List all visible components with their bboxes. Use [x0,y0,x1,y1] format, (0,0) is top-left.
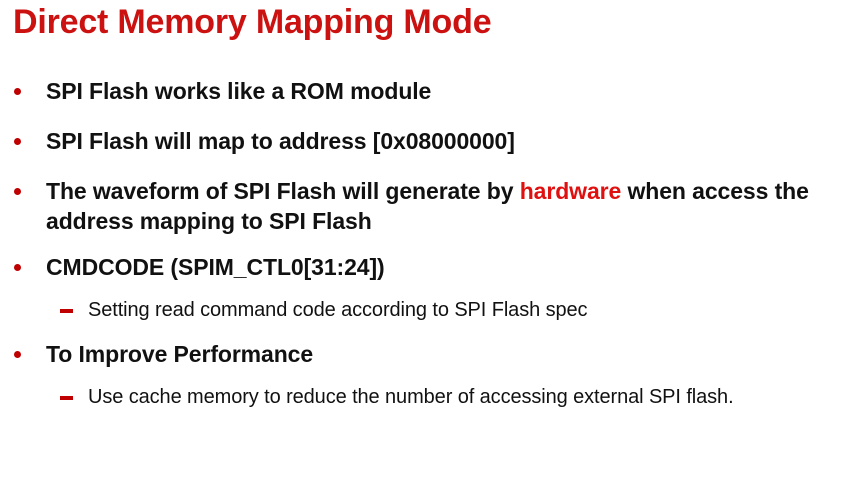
list-item: The waveform of SPI Flash will generate … [0,176,857,236]
page-title: Direct Memory Mapping Mode [13,3,491,42]
sub-list-item: Setting read command code according to S… [0,296,857,325]
list-item-label: CMDCODE (SPIM_CTL0[31:24]) [46,252,857,282]
round-bullet-icon [14,88,21,95]
list-item-label: SPI Flash works like a ROM module [46,76,857,106]
list-item: CMDCODE (SPIM_CTL0[31:24]) [0,252,857,282]
round-bullet-icon [14,138,21,145]
sub-list-item-label: Use cache memory to reduce the number of… [88,383,857,412]
list-item: SPI Flash works like a ROM module [0,76,857,106]
round-bullet-icon [14,351,21,358]
sub-list-item: Use cache memory to reduce the number of… [0,383,857,412]
list-item-label-prefix: The waveform of SPI Flash will generate … [46,178,520,204]
list-item: SPI Flash will map to address [0x0800000… [0,126,857,156]
list-item-label: SPI Flash will map to address [0x0800000… [46,126,857,156]
dash-bullet-icon [60,396,73,400]
list-item-label: The waveform of SPI Flash will generate … [46,176,854,236]
list-item-label: To Improve Performance [46,339,857,369]
dash-bullet-icon [60,309,73,313]
list-item: To Improve Performance [0,339,857,369]
bullet-list: SPI Flash works like a ROM module SPI Fl… [0,76,857,420]
round-bullet-icon [14,264,21,271]
sub-list-item-label: Setting read command code according to S… [88,296,857,325]
slide: Direct Memory Mapping Mode SPI Flash wor… [0,0,857,488]
list-item-label-highlight: hardware [520,178,621,204]
round-bullet-icon [14,188,21,195]
